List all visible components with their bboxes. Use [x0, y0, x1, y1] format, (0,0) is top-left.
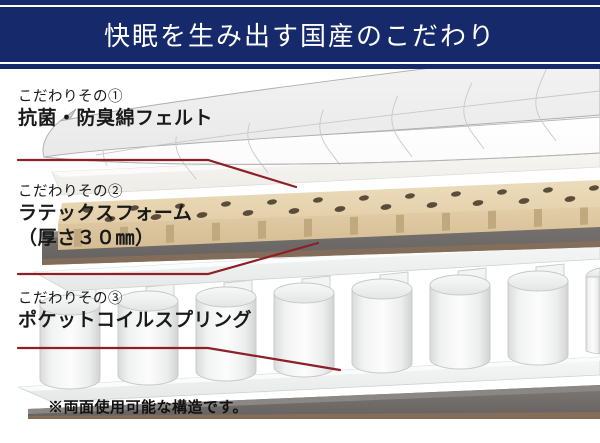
pocket-coil [352, 279, 412, 373]
feature-3-eyebrow: こだわりその③ [18, 290, 252, 308]
feature-3-title: ポケットコイルスプリング [18, 308, 252, 333]
feature-label-2: こだわりその② ラテックスフォーム （厚さ３０㎜） [18, 183, 192, 251]
pocket-coil [430, 275, 490, 369]
feature-label-1: こだわりその① 抗菌・防臭綿フェルト [18, 88, 213, 131]
page-title: 快眠を生み出す国産のこだわり [0, 7, 600, 62]
pocket-coil [274, 283, 334, 377]
feature-1-eyebrow: こだわりその① [18, 88, 213, 106]
feature-2-title: ラテックスフォーム [18, 201, 192, 226]
feature-2-subtitle: （厚さ３０㎜） [18, 226, 192, 251]
pocket-coil [586, 268, 600, 354]
feature-label-3: こだわりその③ ポケットコイルスプリング [18, 290, 252, 333]
feature-2-eyebrow: こだわりその② [18, 183, 192, 201]
footnote-text: ※両面使用可能な構造です。 [48, 396, 248, 417]
infographic-page: 快眠を生み出す国産のこだわり [0, 0, 600, 443]
pocket-coil [508, 271, 568, 365]
feature-1-title: 抗菌・防臭綿フェルト [18, 106, 213, 131]
